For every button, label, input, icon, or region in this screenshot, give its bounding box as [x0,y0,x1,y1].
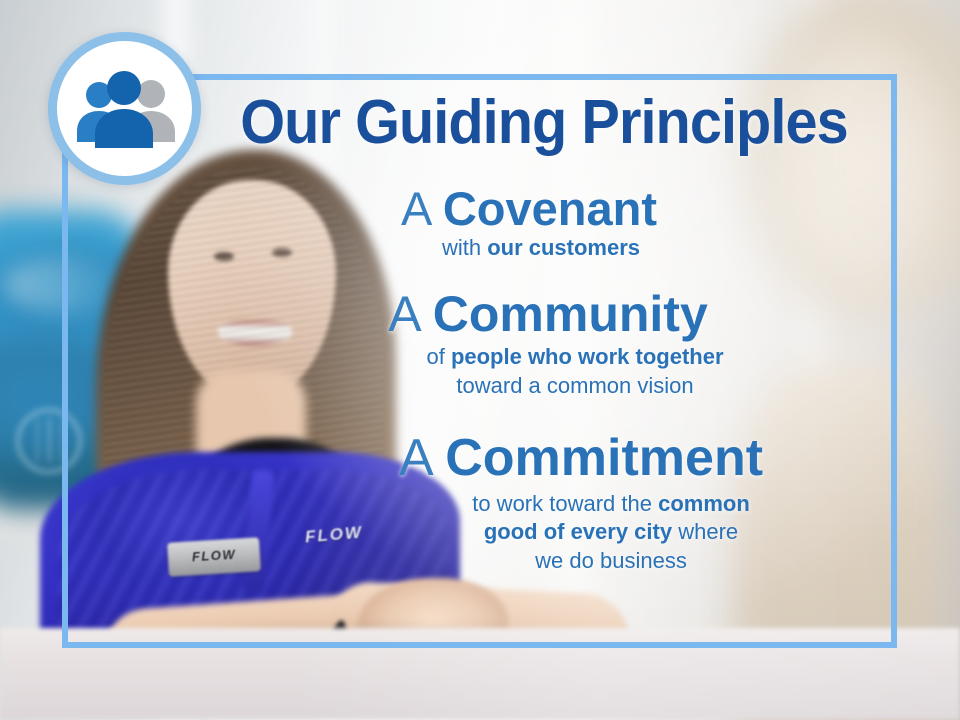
subtext-line: of people who work together [268,343,882,372]
subtext-tail-b: we do business [535,548,687,573]
subtext-line: to work toward the common [332,490,890,519]
principle-title: A Covenant [214,184,844,234]
principle-community: A Community of people who work together … [214,288,890,400]
principles-list: A Covenant with our customers A Communit… [214,184,890,579]
subtext-line: toward a common vision [268,372,882,401]
subtext-tail-a: where [672,519,738,544]
principle-article: A [401,182,430,235]
principle-title: A Community [214,288,882,341]
page-title: Our Guiding Principles [237,92,851,154]
principle-subtext: with our customers [214,234,844,263]
principle-subtext: to work toward the common good of every … [272,490,890,576]
subtext-line: we do business [332,547,890,576]
principle-word: Community [433,286,708,342]
principle-word: Covenant [443,182,657,235]
principle-title: A Commitment [272,431,890,486]
principle-article: A [399,429,431,487]
principle-subtext: of people who work together toward a com… [214,343,882,400]
subtext-bold-b: good of every city [484,519,672,544]
subtext-bold-a: common [658,491,750,516]
vw-logo-icon [16,408,82,474]
people-group-icon [72,70,178,148]
subtext-line: good of every city where [332,518,890,547]
subtext-line: with our customers [442,235,640,260]
principle-article: A [388,286,419,342]
desk-surface [0,628,960,720]
guiding-principles-graphic: FLOW FLOW Our Guiding Principles [0,0,960,720]
principle-word: Commitment [445,429,763,487]
principle-commitment: A Commitment to work toward the common g… [214,431,890,576]
principle-covenant: A Covenant with our customers [214,184,890,262]
people-badge [48,32,201,185]
